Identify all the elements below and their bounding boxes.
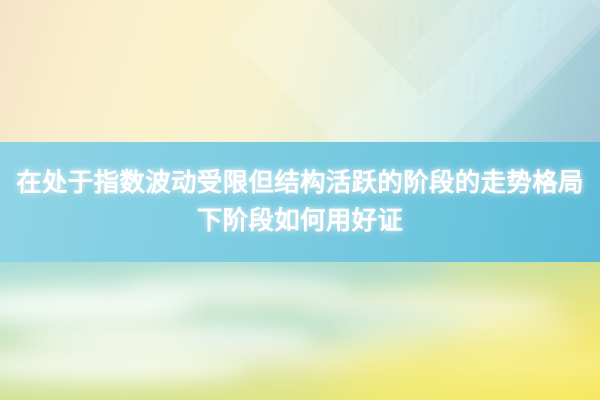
- banner-title-line-2: 下阶段如何用好证: [197, 202, 403, 240]
- ghost-number-texture: 0 . 7 7 2 . 6 3 1 . 4 0: [398, 80, 528, 89]
- ghost-number-texture: 0 . 4 2 1 . 8 3: [470, 6, 552, 15]
- image-canvas: 1 0 . 2 4 3 . 1 7 0 . 8 6 2 . 3 1 1 . 0 …: [0, 0, 600, 400]
- cloud-decoration: [0, 350, 250, 382]
- ghost-number-texture: 1 . 6 2 4 . 0 8 0 . 3 4: [398, 100, 528, 109]
- ghost-number-texture: 2 . 3 1 1 . 0 9 4 . 5 2: [398, 70, 528, 79]
- ghost-number-texture: 3 . 9 8 0 . 5 1 2 . 2 5: [398, 90, 528, 99]
- ghost-number-texture: 5 . 1 2 0 . 3 6: [352, 14, 424, 22]
- ghost-number-texture: 1 . 3 7 3 . 0 2: [470, 26, 552, 35]
- ghost-number-texture: 1 . 9 4 2 . 7 8: [352, 22, 424, 30]
- banner-title-line-1: 在处于指数波动受限但结构活跃的阶段的走势格局: [16, 164, 584, 202]
- ghost-number-texture: 2 . 0 7: [540, 112, 569, 120]
- ghost-number-texture: 0 . 6 8 2 . 4 9: [470, 36, 552, 45]
- ghost-number-texture: 3 . 4 5: [540, 96, 569, 104]
- ghost-number-texture: 0 . 8 1 4 . 2 0: [352, 30, 424, 38]
- ghost-number-texture: 1 0 . 2 4 3 . 1 7 0 . 8 6: [398, 60, 538, 69]
- title-banner: 在处于指数波动受限但结构活跃的阶段的走势格局 下阶段如何用好证: [0, 142, 600, 262]
- ghost-number-texture: 2 . 1 6 0 . 9 5: [470, 16, 552, 25]
- bottom-background: [0, 262, 600, 400]
- top-background: 1 0 . 2 4 3 . 1 7 0 . 8 6 2 . 3 1 1 . 0 …: [0, 0, 600, 143]
- ghost-number-texture: 0 . 9 2: [540, 104, 569, 112]
